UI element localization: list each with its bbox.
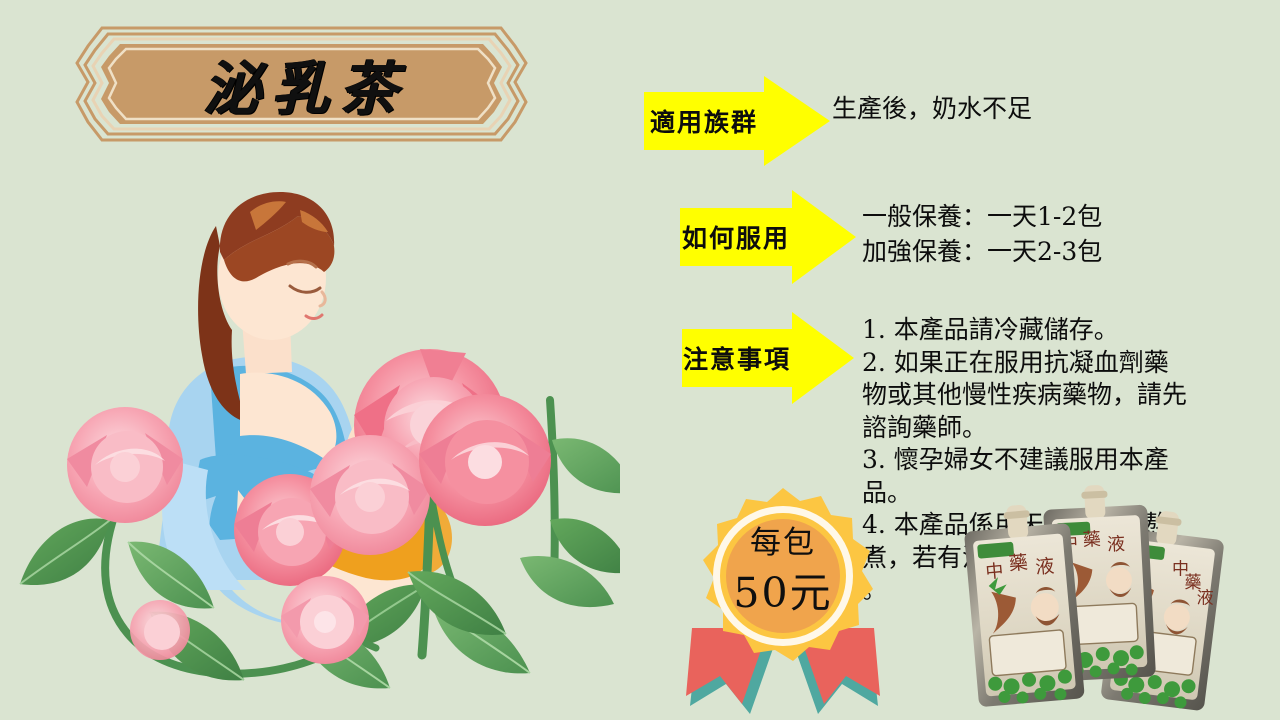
price-value-label: 50元 — [672, 567, 894, 620]
price-badge: 每包 50元 — [672, 482, 894, 720]
svg-text:中: 中 — [985, 561, 1005, 583]
row-target-group: 適用族群 — [644, 76, 830, 166]
arrow-label-dosage: 如何服用 — [680, 190, 792, 284]
arrow-shape-1: 適用族群 — [644, 76, 830, 166]
dosage-line-1: 一般保養：一天1-2包 — [862, 200, 1102, 235]
page-title: 泌乳茶 — [74, 24, 529, 144]
title-banner: 泌乳茶 — [74, 24, 529, 144]
price-unit-label: 每包 — [672, 524, 894, 563]
row-text-target-group: 生產後，奶水不足 — [832, 92, 1032, 127]
product-photo-pouches: 中 藥 液 中 — [952, 470, 1280, 720]
arrow-label-target-group: 適用族群 — [644, 76, 764, 166]
precaution-item-2: 2. 如果正在服用抗凝血劑藥物或其他慢性疾病藥物，請先諮詢藥師。 — [862, 347, 1192, 445]
svg-text:液: 液 — [1197, 589, 1214, 609]
dosage-line-2: 加強保養：一天2-3包 — [862, 235, 1102, 270]
mother-baby-flowers-illustration — [0, 160, 620, 720]
target-group-line-1: 生產後，奶水不足 — [832, 92, 1032, 127]
svg-text:藥: 藥 — [1082, 529, 1101, 551]
arrow-shape-2: 如何服用 — [680, 190, 856, 284]
arrow-label-precautions: 注意事項 — [682, 312, 792, 404]
price-badge-text: 每包 50元 — [672, 524, 894, 620]
row-precautions: 注意事項 — [682, 312, 854, 404]
svg-text:液: 液 — [1034, 555, 1055, 579]
arrow-shape-3: 注意事項 — [682, 312, 854, 404]
svg-text:藥: 藥 — [1008, 552, 1029, 576]
precaution-item-1: 1. 本產品請冷藏儲存。 — [862, 314, 1192, 347]
svg-text:液: 液 — [1107, 534, 1126, 556]
row-text-dosage: 一般保養：一天1-2包 加強保養：一天2-3包 — [862, 200, 1102, 269]
poster-canvas: 泌乳茶 — [0, 0, 1280, 720]
row-dosage: 如何服用 — [680, 190, 856, 284]
